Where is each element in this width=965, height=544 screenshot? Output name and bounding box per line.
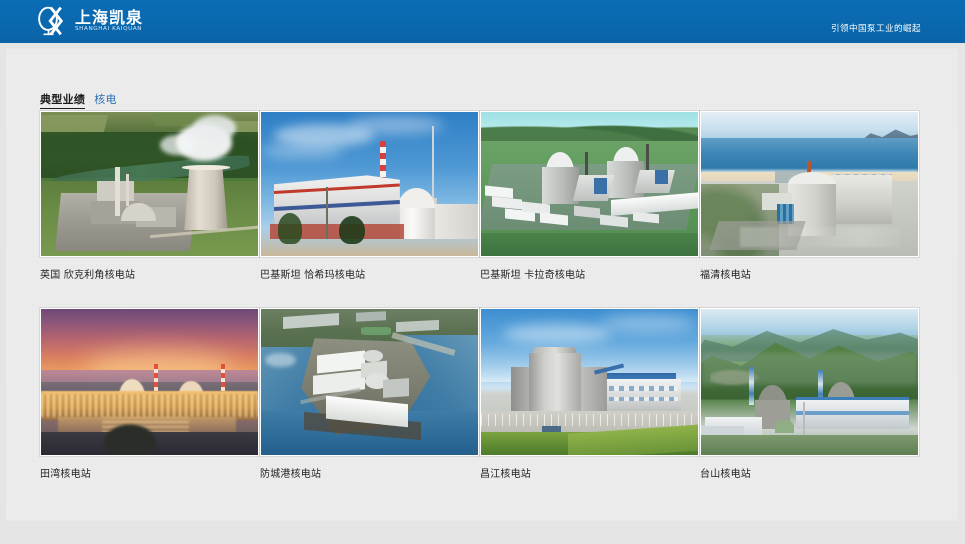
kaiquan-k-logo-icon (36, 6, 70, 36)
section-heading: 典型业绩 核电 (40, 91, 117, 109)
brand-wordmark: 上海凯泉 SHANGHAI KAIQUAN (75, 9, 143, 33)
gallery-item[interactable]: 福清核电站 (700, 111, 920, 281)
gallery-item[interactable]: 巴基斯坦 卡拉奇核电站 (480, 111, 700, 281)
photo-fuqing (701, 112, 918, 256)
photo-fangchenggang (261, 309, 478, 455)
photo-karachi (481, 112, 698, 256)
gallery-thumbnail[interactable] (480, 111, 699, 257)
photo-tianwan (41, 309, 258, 455)
gallery-grid-row-2: 田湾核电站 防城港核电站 (40, 308, 926, 480)
gallery-thumbnail[interactable] (700, 308, 919, 456)
content-sheet: 典型业绩 核电 英国 欣克利角核电站 (6, 49, 958, 521)
gallery-thumbnail[interactable] (700, 111, 919, 257)
gallery-caption: 昌江核电站 (480, 465, 700, 480)
header-slogan: 引领中国泵工业的崛起 (831, 22, 921, 34)
gallery-thumbnail[interactable] (40, 308, 259, 456)
gallery-item[interactable]: 巴基斯坦 恰希玛核电站 (260, 111, 480, 281)
gallery-thumbnail[interactable] (480, 308, 699, 456)
photo-hinkley-point (41, 112, 258, 256)
section-subtitle-category[interactable]: 核电 (94, 91, 117, 107)
gallery-caption: 巴基斯坦 恰希玛核电站 (260, 266, 480, 281)
page-root: 上海凯泉 SHANGHAI KAIQUAN 引领中国泵工业的崛起 典型业绩 核电 (0, 0, 965, 544)
brand-logo[interactable]: 上海凯泉 SHANGHAI KAIQUAN (36, 6, 143, 36)
brand-name-cn: 上海凯泉 (75, 9, 143, 26)
gallery-caption: 英国 欣克利角核电站 (40, 266, 260, 281)
gallery-item[interactable]: 昌江核电站 (480, 308, 700, 480)
section-title: 典型业绩 (40, 91, 85, 109)
photo-taishan (701, 309, 918, 455)
brand-name-en: SHANGHAI KAIQUAN (75, 26, 144, 33)
photo-chashma (261, 112, 478, 256)
gallery-item[interactable]: 台山核电站 (700, 308, 920, 480)
gallery-caption: 防城港核电站 (260, 465, 480, 480)
gallery-caption: 田湾核电站 (40, 465, 260, 480)
gallery-caption: 福清核电站 (700, 266, 920, 281)
photo-changjiang (481, 309, 698, 455)
gallery-thumbnail[interactable] (260, 308, 479, 456)
gallery-item[interactable]: 防城港核电站 (260, 308, 480, 480)
gallery-item[interactable]: 田湾核电站 (40, 308, 260, 480)
gallery-caption: 巴基斯坦 卡拉奇核电站 (480, 266, 700, 281)
gallery-thumbnail[interactable] (260, 111, 479, 257)
gallery-caption: 台山核电站 (700, 465, 920, 480)
gallery-grid-row-1: 英国 欣克利角核电站 巴基斯坦 恰希玛核电站 (40, 111, 926, 281)
gallery-item[interactable]: 英国 欣克利角核电站 (40, 111, 260, 281)
site-header: 上海凯泉 SHANGHAI KAIQUAN 引领中国泵工业的崛起 (0, 0, 965, 43)
gallery-thumbnail[interactable] (40, 111, 259, 257)
